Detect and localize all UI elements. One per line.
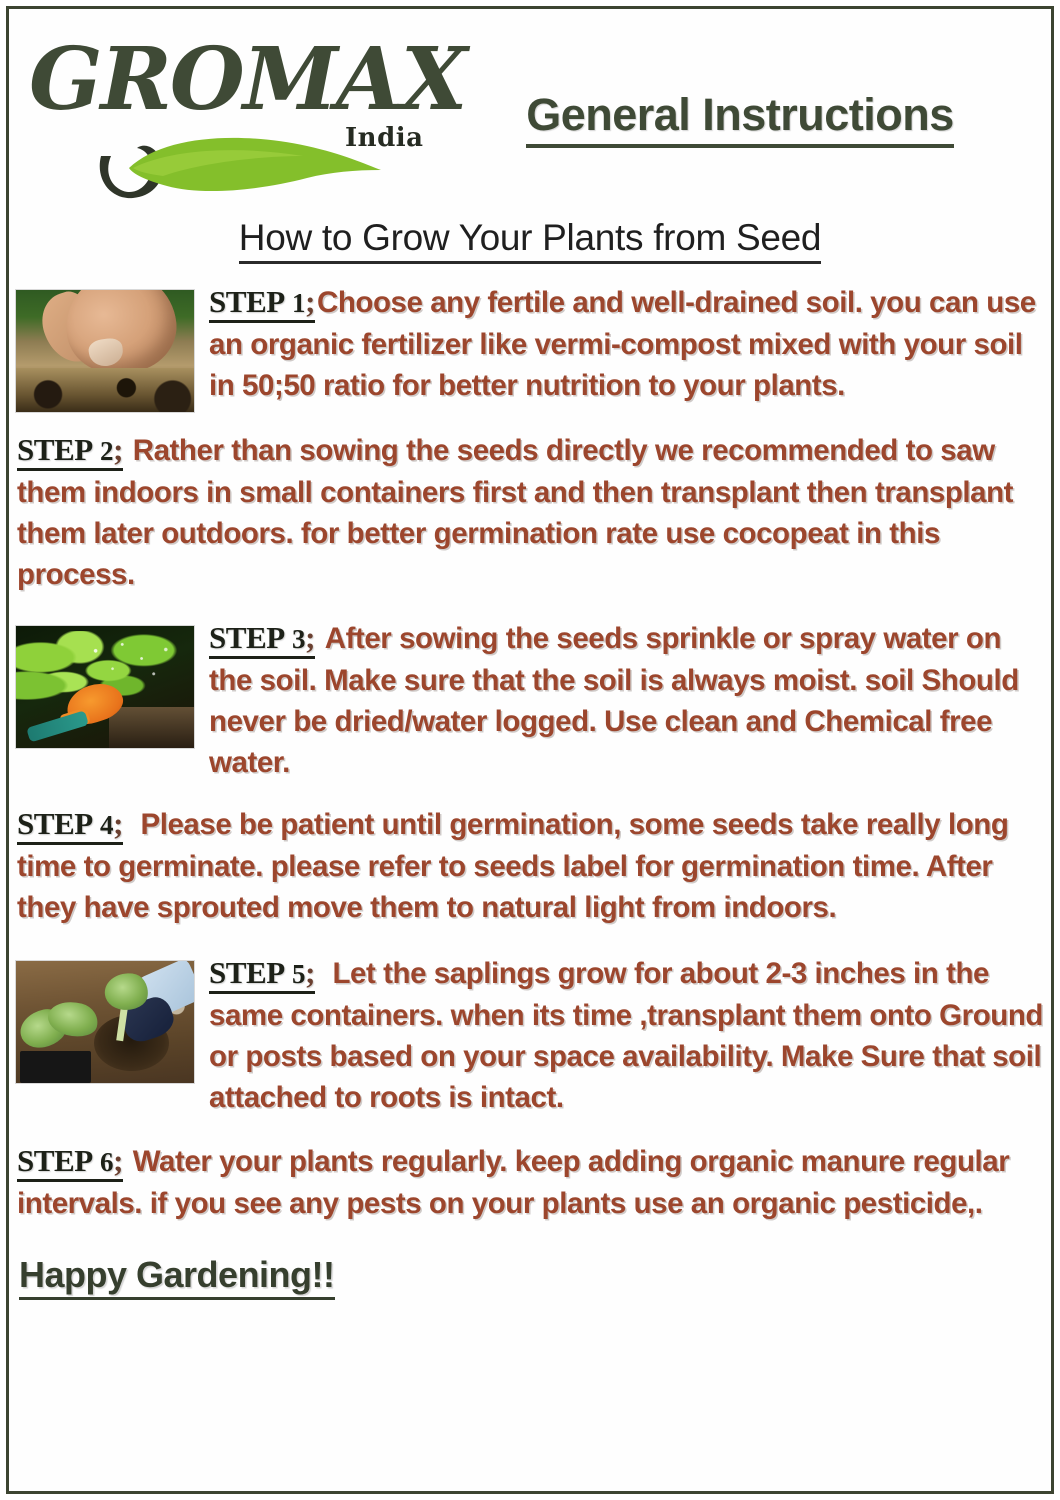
logo-wordmark: GROMAX bbox=[29, 37, 465, 123]
step-5-text: Let the saplings grow for about 2-3 inch… bbox=[209, 957, 1043, 1114]
step-2-paragraph: STEP 2; Rather than sowing the seeds dir… bbox=[17, 429, 1043, 595]
footer: Happy Gardening!! bbox=[9, 1254, 1051, 1300]
page-title: General Instructions bbox=[526, 89, 954, 148]
step-1-label: STEP 1; bbox=[209, 284, 315, 323]
gromax-logo: GROMAX India bbox=[23, 31, 443, 196]
step-item-1: STEP 1;Choose any fertile and well-drain… bbox=[9, 281, 1051, 417]
step-item-4: STEP 4; Please be patient until germinat… bbox=[9, 803, 1051, 928]
hand-sowing-seed-image bbox=[15, 289, 195, 413]
step-3-text: After sowing the seeds sprinkle or spray… bbox=[209, 622, 1019, 779]
step-item-3: STEP 3; After sowing the seeds sprinkle … bbox=[9, 617, 1051, 783]
step-1-text: Choose any fertile and well-drained soil… bbox=[209, 286, 1036, 402]
step-3-label: STEP 3; bbox=[209, 620, 315, 659]
leaf-swoosh-icon bbox=[93, 126, 383, 206]
page-subtitle-row: How to Grow Your Plants from Seed bbox=[9, 217, 1051, 264]
steps-list: STEP 1;Choose any fertile and well-drain… bbox=[9, 277, 1051, 1491]
step-item-2: STEP 2; Rather than sowing the seeds dir… bbox=[9, 429, 1051, 595]
sheet-border-frame: GROMAX India General Instructions How to… bbox=[6, 6, 1054, 1494]
step-item-5: STEP 5; Let the saplings grow for about … bbox=[9, 952, 1051, 1118]
header: GROMAX India General Instructions How to… bbox=[9, 9, 1051, 199]
step-4-text: Please be patient until germination, som… bbox=[17, 808, 1008, 924]
instruction-sheet-page: GROMAX India General Instructions How to… bbox=[0, 0, 1060, 1500]
page-title-block: General Instructions bbox=[439, 89, 1041, 148]
step-4-paragraph: STEP 4; Please be patient until germinat… bbox=[17, 803, 1043, 928]
step-6-text: Water your plants regularly. keep adding… bbox=[17, 1145, 1009, 1220]
closing-message: Happy Gardening!! bbox=[19, 1254, 335, 1300]
transplanting-seedling-image bbox=[15, 960, 195, 1084]
step-6-paragraph: STEP 6; Water your plants regularly. kee… bbox=[17, 1140, 1043, 1224]
step-2-label: STEP 2; bbox=[17, 432, 123, 471]
page-subtitle: How to Grow Your Plants from Seed bbox=[239, 217, 821, 264]
watering-sprinkler-image bbox=[15, 625, 195, 749]
step-2-text: Rather than sowing the seeds directly we… bbox=[17, 434, 1013, 591]
step-4-label: STEP 4; bbox=[17, 806, 123, 845]
step-6-label: STEP 6; bbox=[17, 1143, 123, 1182]
step-5-label: STEP 5; bbox=[209, 955, 315, 994]
step-item-6: STEP 6; Water your plants regularly. kee… bbox=[9, 1140, 1051, 1224]
